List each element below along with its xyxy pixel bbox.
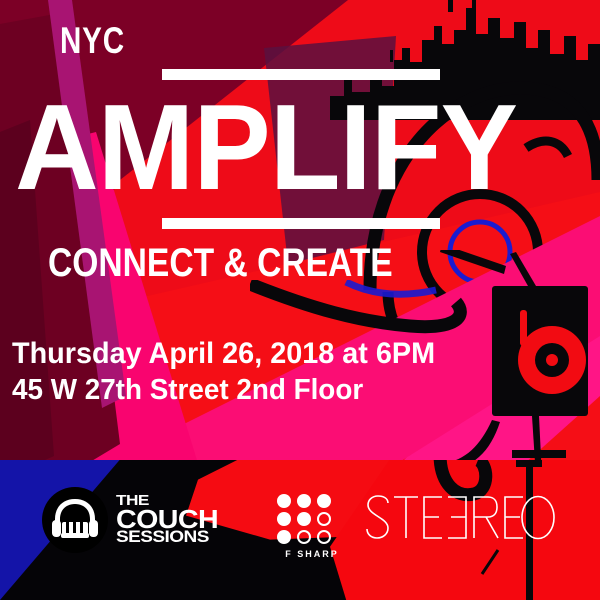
logo-the-couch-sessions[interactable]: THE COUCH SESSIONS: [42, 484, 228, 556]
dot-2-2: [297, 512, 311, 526]
event-address: 45 W 27th Street 2nd Floor: [12, 373, 588, 408]
couch-sessions-wordmark: THE COUCH SESSIONS: [116, 495, 209, 545]
kicker-label: NYC: [60, 22, 540, 59]
couch-headphones-icon: [42, 487, 108, 553]
dot-3-3: [317, 530, 331, 544]
dot-3-1: [277, 530, 291, 544]
dot-1-2: [297, 494, 311, 508]
event-details: Thursday April 26, 2018 at 6PM 45 W 27th…: [0, 336, 600, 408]
dot-2-1: [277, 512, 291, 526]
page-title: AMPLIFY: [15, 86, 585, 208]
event-datetime: Thursday April 26, 2018 at 6PM: [12, 336, 588, 373]
logo-f-sharp[interactable]: F SHARP: [277, 494, 347, 556]
nine-dot-grid-icon: [277, 494, 347, 545]
f-sharp-label: F SHARP: [277, 549, 347, 559]
logo-steereo[interactable]: [366, 494, 556, 540]
dot-1-3: [317, 494, 331, 508]
event-flyer: NYC AMPLIFY CONNECT & CREATE Thursday Ap…: [0, 0, 600, 600]
couch-headphones-glyph: [49, 496, 101, 544]
steereo-wordmark: [366, 494, 556, 540]
dot-3-2: [297, 530, 311, 544]
tagline: CONNECT & CREATE: [48, 243, 552, 283]
dot-2-3: [317, 512, 331, 526]
dot-1-1: [277, 494, 291, 508]
rule-bottom: [162, 218, 440, 229]
couch-line-3: SESSIONS: [116, 530, 220, 545]
